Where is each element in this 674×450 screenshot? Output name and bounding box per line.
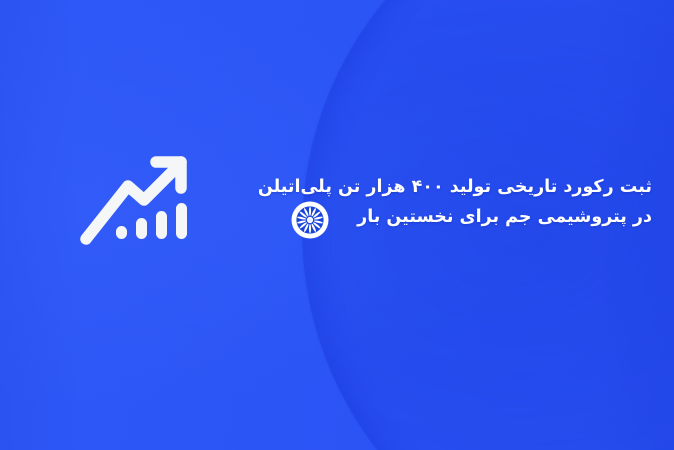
- news-banner: ثبت رکورد تاریخی تولید ۴۰۰ هزار تن پلی‌ا…: [0, 0, 674, 450]
- growth-chart-arrow-icon: [76, 140, 200, 252]
- headline: ثبت رکورد تاریخی تولید ۴۰۰ هزار تن پلی‌ا…: [292, 172, 652, 232]
- headline-line-2: در پتروشیمی جم برای نخستین بار: [292, 202, 652, 232]
- headline-line-1: ثبت رکورد تاریخی تولید ۴۰۰ هزار تن پلی‌ا…: [292, 172, 652, 202]
